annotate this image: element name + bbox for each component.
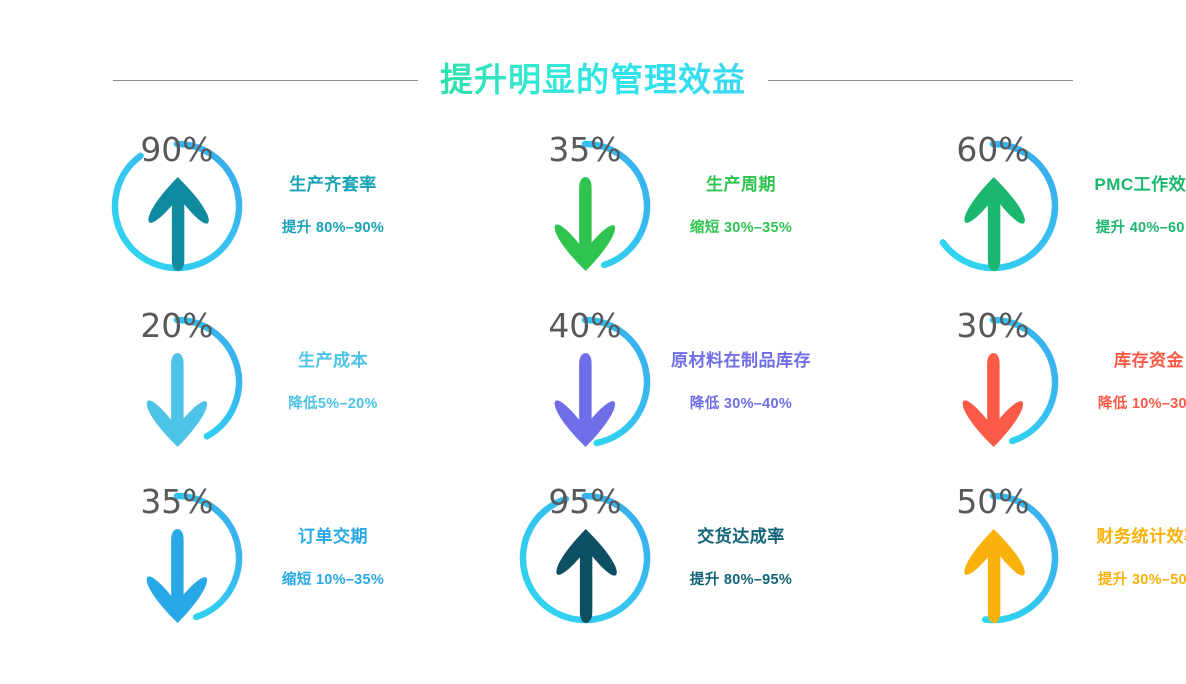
metric-labels: 订单交期缩短 10%–35% <box>258 527 408 589</box>
percent-value: 90% <box>140 133 213 166</box>
header-rule-right <box>768 80 1073 81</box>
metric-detail: 降低 10%–30% <box>1098 396 1186 413</box>
metric-item: 35%订单交期缩短 10%–35% <box>0 470 408 646</box>
arrow-down-icon <box>512 169 658 279</box>
progress-ring: 50% <box>920 485 1066 631</box>
metric-detail: 提升 30%–50% <box>1098 572 1186 589</box>
progress-ring: 20% <box>104 309 250 455</box>
metric-item: 95%交货达成率提升 80%–95% <box>408 470 816 646</box>
metric-labels: 库存资金降低 10%–30% <box>1074 351 1186 413</box>
arrow-down-icon <box>920 345 1066 455</box>
metric-item: 90%生产齐套率提升 80%–90% <box>0 118 408 294</box>
metric-item: 50%财务统计效率提升 30%–50% <box>816 470 1186 646</box>
progress-ring: 95% <box>512 485 658 631</box>
metric-title: 订单交期 <box>298 527 368 547</box>
progress-ring: 90% <box>104 133 250 279</box>
ring-center: 60% <box>920 133 1066 279</box>
ring-center: 20% <box>104 309 250 455</box>
arrow-up-icon <box>512 521 658 631</box>
progress-ring: 40% <box>512 309 658 455</box>
progress-ring: 30% <box>920 309 1066 455</box>
metric-labels: 生产齐套率提升 80%–90% <box>258 175 408 237</box>
metric-detail: 提升 80%–90% <box>282 220 384 237</box>
arrow-down-icon <box>104 521 250 631</box>
metric-detail: 提升 40%–60 % <box>1096 220 1186 237</box>
arrow-up-icon <box>920 521 1066 631</box>
page-title: 提升明显的管理效益 <box>440 60 746 100</box>
metric-title: 交货达成率 <box>697 527 785 547</box>
metric-item: 30%库存资金降低 10%–30% <box>816 294 1186 470</box>
metric-title: 财务统计效率 <box>1097 527 1186 547</box>
percent-value: 30% <box>956 309 1029 342</box>
metric-title: 生产齐套率 <box>289 175 377 195</box>
metric-title: 库存资金 <box>1114 351 1184 371</box>
arrow-down-icon <box>104 345 250 455</box>
page-header: 提升明显的管理效益 <box>0 52 1186 108</box>
ring-center: 35% <box>512 133 658 279</box>
percent-value: 95% <box>548 485 621 518</box>
metric-detail: 降低5%–20% <box>288 396 377 413</box>
percent-value: 50% <box>956 485 1029 518</box>
metric-labels: PMC工作效率提升 40%–60 % <box>1074 175 1186 237</box>
metric-detail: 降低 30%–40% <box>690 396 792 413</box>
metric-labels: 交货达成率提升 80%–95% <box>666 527 816 589</box>
metric-title: 生产成本 <box>298 351 368 371</box>
metric-title: 生产周期 <box>706 175 776 195</box>
progress-ring: 60% <box>920 133 1066 279</box>
metric-item: 20%生产成本降低5%–20% <box>0 294 408 470</box>
metric-title: PMC工作效率 <box>1094 175 1186 195</box>
percent-value: 35% <box>140 485 213 518</box>
metric-detail: 提升 80%–95% <box>690 572 792 589</box>
header-rule-left <box>113 80 418 81</box>
ring-center: 35% <box>104 485 250 631</box>
progress-ring: 35% <box>512 133 658 279</box>
ring-center: 40% <box>512 309 658 455</box>
metric-labels: 财务统计效率提升 30%–50% <box>1074 527 1186 589</box>
metric-labels: 生产周期缩短 30%–35% <box>666 175 816 237</box>
arrow-up-icon <box>104 169 250 279</box>
metric-labels: 生产成本降低5%–20% <box>258 351 408 413</box>
percent-value: 40% <box>548 309 621 342</box>
ring-center: 90% <box>104 133 250 279</box>
infographic-page: 提升明显的管理效益 90%生产齐套率提升 80%–90%35%生产周期缩短 30… <box>0 0 1186 684</box>
ring-center: 30% <box>920 309 1066 455</box>
metric-detail: 缩短 10%–35% <box>282 572 384 589</box>
metric-item: 35%生产周期缩短 30%–35% <box>408 118 816 294</box>
ring-center: 95% <box>512 485 658 631</box>
metrics-grid: 90%生产齐套率提升 80%–90%35%生产周期缩短 30%–35%60%PM… <box>0 118 1186 678</box>
metric-title: 原材料在制品库存 <box>671 351 811 371</box>
metric-item: 40%原材料在制品库存降低 30%–40% <box>408 294 816 470</box>
arrow-up-icon <box>920 169 1066 279</box>
ring-center: 50% <box>920 485 1066 631</box>
progress-ring: 35% <box>104 485 250 631</box>
percent-value: 35% <box>548 133 621 166</box>
metric-item: 60%PMC工作效率提升 40%–60 % <box>816 118 1186 294</box>
metric-detail: 缩短 30%–35% <box>690 220 792 237</box>
metric-labels: 原材料在制品库存降低 30%–40% <box>666 351 816 413</box>
percent-value: 20% <box>140 309 213 342</box>
arrow-down-icon <box>512 345 658 455</box>
percent-value: 60% <box>956 133 1029 166</box>
